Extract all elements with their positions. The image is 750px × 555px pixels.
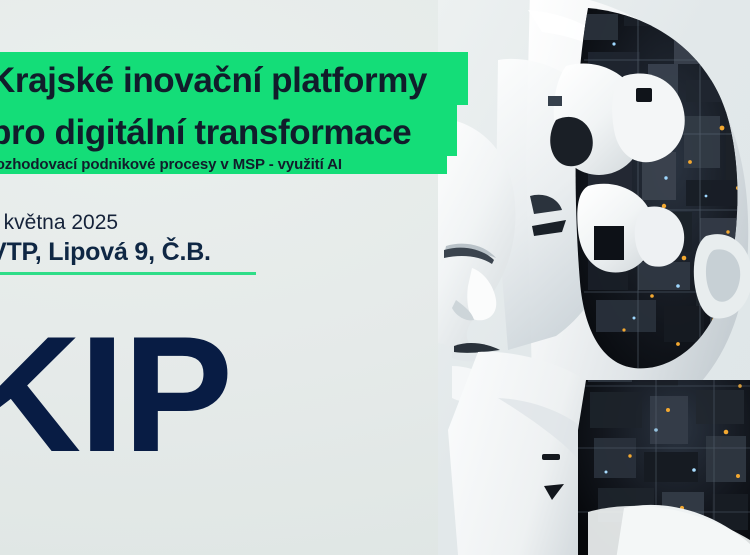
event-venue: VTP, Lipová 9, Č.B.: [0, 240, 211, 265]
event-date: . května 2025: [0, 212, 118, 233]
headline-subtitle: rozhodovací podnikové procesy v MSP - vy…: [0, 156, 342, 174]
headline-line-2: pro digitální transformace: [0, 115, 411, 150]
promo-banner: Krajské inovační platformy pro digitální…: [0, 0, 750, 555]
robot-head-image: [438, 0, 750, 555]
venue-underline: [0, 272, 256, 275]
kip-wordmark: KIP: [0, 312, 231, 477]
headline-line-1: Krajské inovační platformy: [0, 63, 427, 98]
